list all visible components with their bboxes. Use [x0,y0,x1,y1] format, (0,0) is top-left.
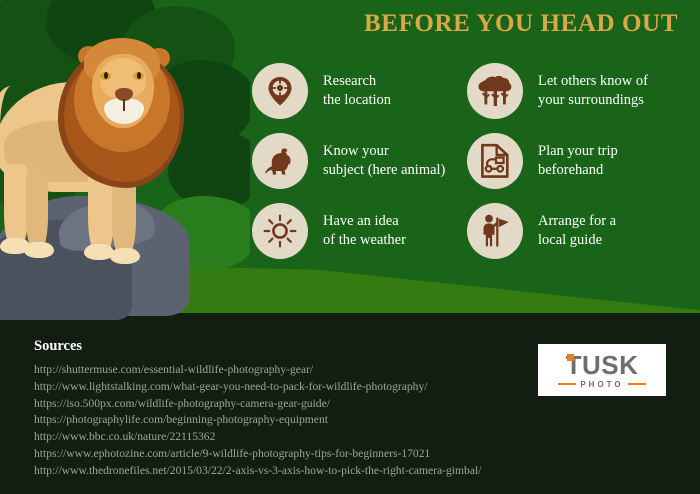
kangaroo-icon [252,133,308,189]
source-link[interactable]: http://shuttermuse.com/essential-wildlif… [34,362,481,379]
person-with-flag-icon [467,203,523,259]
page-title: BEFORE YOU HEAD OUT [364,10,678,38]
trees-icon [467,63,523,119]
tip-let-others-know[interactable]: Let others know of your surroundings [467,56,691,126]
tip-research-location[interactable]: Research the location [252,56,476,126]
lion-pupil [137,72,141,79]
logo-dash-right-icon [628,383,646,385]
logo-orange-accent [567,354,574,361]
lion-nose-line [123,99,125,111]
tip-local-guide[interactable]: Arrange for a local guide [467,196,691,266]
tips-column-left: Research the location Know your subject … [252,56,476,266]
tip-label: Arrange for a local guide [538,212,616,250]
logo-dash-left-icon [558,383,576,385]
logo-main-text: TUSK [566,350,639,380]
tip-know-your-subject[interactable]: Know your subject (here animal) [252,126,476,196]
sources-heading: Sources [34,338,82,355]
logo-wordmark: TUSK [566,352,639,378]
tip-plan-your-trip[interactable]: Plan your trip beforehand [467,126,691,196]
logo-subtitle-row: PHOTO [558,380,645,389]
source-link[interactable]: http://www.lightstalking.com/what-gear-y… [34,379,481,396]
logo-sub-text: PHOTO [580,380,623,389]
source-link[interactable]: http://www.bbc.co.uk/nature/22115362 [34,429,481,446]
tip-label: Let others know of your surroundings [538,72,648,110]
tip-label: Research the location [323,72,391,110]
source-link[interactable]: https://photographylife.com/beginning-ph… [34,412,481,429]
lion-paw [24,242,54,258]
tip-label: Plan your trip beforehand [538,142,618,180]
source-link[interactable]: http://www.thedronefiles.net/2015/03/22/… [34,463,481,480]
map-pin-target-icon [252,63,308,119]
document-flowchart-icon [467,133,523,189]
source-link[interactable]: https://iso.500px.com/wildlife-photograp… [34,396,481,413]
tip-label: Know your subject (here animal) [323,142,445,180]
lion-pupil [104,72,108,79]
lion-paw [110,248,140,264]
sun-icon [252,203,308,259]
lion-front-leg-far [26,170,48,248]
tip-label: Have an idea of the weather [323,212,406,250]
source-link[interactable]: https://www.ephotozine.com/article/9-wil… [34,446,481,463]
tip-weather[interactable]: Have an idea of the weather [252,196,476,266]
infographic-canvas: BEFORE YOU HEAD OUT Research the locatio [0,0,700,494]
tusk-photo-logo[interactable]: TUSK PHOTO [538,344,666,396]
tips-column-right: Let others know of your surroundings Pla… [467,56,691,266]
lion-illustration [0,24,220,314]
lion-front-leg [4,164,28,246]
sources-list: http://shuttermuse.com/essential-wildlif… [34,362,481,480]
